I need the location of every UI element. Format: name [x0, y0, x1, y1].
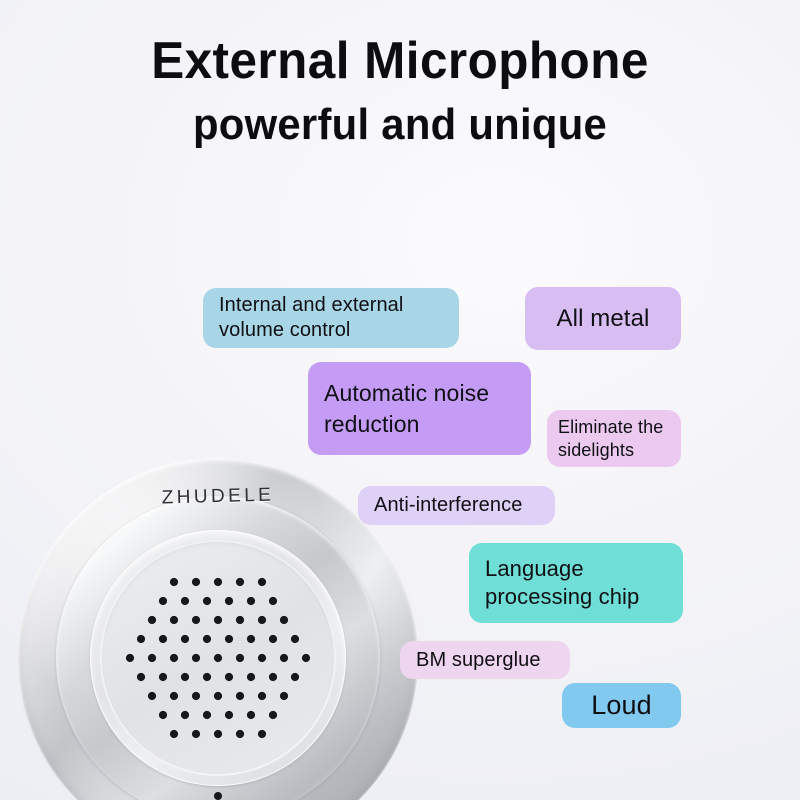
- feature-pill-anti-interference[interactable]: Anti-interference: [358, 486, 555, 525]
- feature-pill-language-chip[interactable]: Language processing chip: [469, 543, 683, 623]
- feature-pill-volume-control[interactable]: Internal and external volume control: [203, 288, 459, 348]
- page-subtitle: powerful and unique: [20, 98, 780, 152]
- product-poster: External Microphone powerful and unique …: [0, 0, 800, 800]
- feature-pill-loud[interactable]: Loud: [562, 683, 681, 728]
- headline-block: External Microphone powerful and unique: [0, 30, 800, 152]
- feature-pill-eliminate-sidelights[interactable]: Eliminate the sidelights: [547, 410, 681, 467]
- bottom-port-dot: [214, 792, 222, 800]
- feature-pill-bm-superglue[interactable]: BM superglue: [400, 641, 570, 679]
- page-title: External Microphone: [20, 30, 780, 92]
- microphone-grille-dots: [100, 540, 336, 776]
- feature-pill-all-metal[interactable]: All metal: [525, 287, 681, 350]
- feature-pill-noise-reduction[interactable]: Automatic noise reduction: [308, 362, 531, 455]
